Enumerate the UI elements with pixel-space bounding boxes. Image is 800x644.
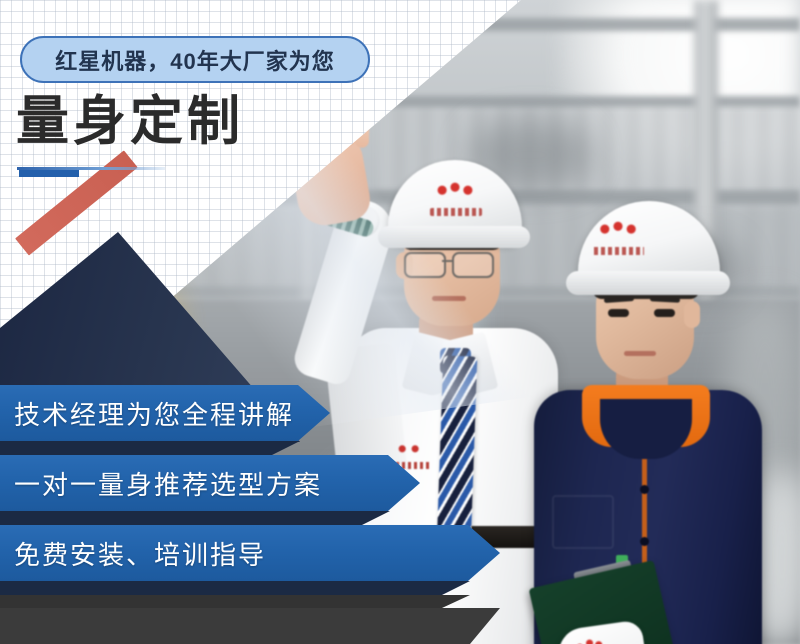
feature-band-shadow bbox=[0, 511, 390, 525]
feature-band-shadow bbox=[0, 581, 470, 595]
hard-hat-logo-icon bbox=[432, 180, 478, 210]
feature-band-2-label: 一对一量身推荐选型方案 bbox=[14, 455, 322, 511]
brand-tagline-text: 红星机器，40年大厂家为您 bbox=[55, 44, 334, 76]
technician-eye bbox=[654, 309, 675, 317]
glasses-lens bbox=[452, 252, 494, 278]
uniform-button bbox=[640, 485, 649, 494]
feature-band-1-label: 技术经理为您全程讲解 bbox=[14, 385, 294, 441]
engineer-striped-tie bbox=[437, 355, 478, 546]
feature-band-3: 免费安装、培训指导 bbox=[0, 525, 500, 581]
technician-hard-hat-brim bbox=[566, 271, 730, 295]
feature-band-3-label: 免费安装、培训指导 bbox=[14, 525, 266, 581]
technician-mouth bbox=[624, 351, 656, 356]
technician-pocket bbox=[552, 495, 614, 549]
feature-band-1: 技术经理为您全程讲解 bbox=[0, 385, 330, 441]
hard-hat-logo-text bbox=[594, 247, 644, 255]
promo-banner: 红星机器，40年大厂家为您 量身定制 技术经理为您全程讲解 一对一量身推荐选型方… bbox=[0, 0, 800, 644]
hard-hat-logo-text bbox=[430, 208, 482, 216]
engineer-mouth bbox=[432, 296, 466, 301]
glasses-lens bbox=[404, 252, 446, 278]
bottom-dark-bar bbox=[0, 608, 500, 644]
technician-eye bbox=[608, 309, 629, 317]
feature-band-2: 一对一量身推荐选型方案 bbox=[0, 455, 420, 511]
glasses-icon bbox=[404, 252, 502, 274]
hard-hat-logo-icon bbox=[596, 219, 640, 247]
feature-band-shadow bbox=[0, 441, 300, 455]
technician-ear bbox=[684, 301, 700, 328]
person-technician bbox=[520, 185, 780, 644]
title-underline-thick bbox=[19, 170, 79, 177]
brand-tagline-badge: 红星机器，40年大厂家为您 bbox=[20, 36, 370, 83]
page-title: 量身定制 bbox=[16, 95, 244, 148]
uniform-button bbox=[640, 537, 649, 546]
engineer-hard-hat-brim bbox=[378, 226, 530, 248]
